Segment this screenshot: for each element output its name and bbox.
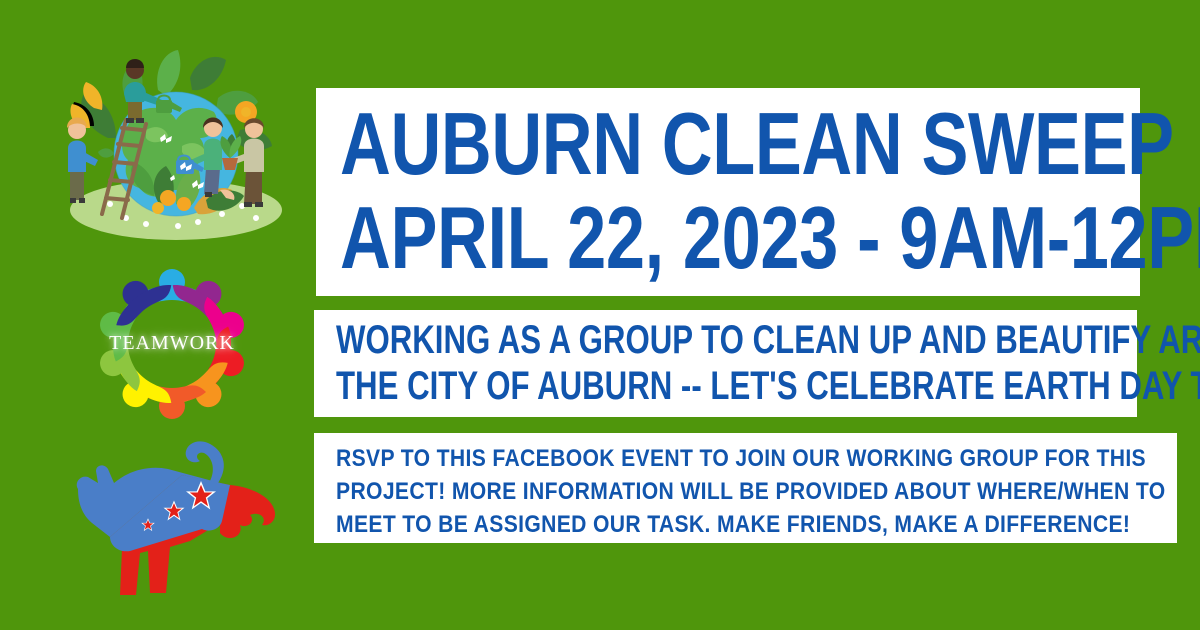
title-panel: AUBURN CLEAN SWEEP APRIL 22, 2023 - 9AM-… <box>316 88 1140 296</box>
teamwork-label: TEAMWORK <box>72 332 272 355</box>
subtitle-line-2: THE CITY OF AUBURN -- LET'S CELEBRATE EA… <box>336 363 1200 410</box>
body-line-3: MEET TO BE ASSIGNED OUR TASK. MAKE FRIEN… <box>336 508 1130 541</box>
earth-day-illustration <box>50 42 290 242</box>
democratic-donkey-logo <box>70 425 285 605</box>
body-line-1: RSVP TO THIS FACEBOOK EVENT TO JOIN OUR … <box>336 442 1146 475</box>
body-line-2: PROJECT! MORE INFORMATION WILL BE PROVID… <box>336 475 1165 508</box>
artwork-column: TEAMWORK <box>0 0 300 630</box>
subtitle-line-1: WORKING AS A GROUP TO CLEAN UP AND BEAUT… <box>336 317 1200 364</box>
event-title-line-1: AUBURN CLEAN SWEEP <box>340 94 1174 194</box>
event-poster: TEAMWORK <box>0 0 1200 630</box>
body-panel: RSVP TO THIS FACEBOOK EVENT TO JOIN OUR … <box>314 433 1177 543</box>
teamwork-logo: TEAMWORK <box>72 252 272 437</box>
subtitle-panel: WORKING AS A GROUP TO CLEAN UP AND BEAUT… <box>314 310 1137 417</box>
event-date-time-line: APRIL 22, 2023 - 9AM-12PM <box>340 188 1200 288</box>
